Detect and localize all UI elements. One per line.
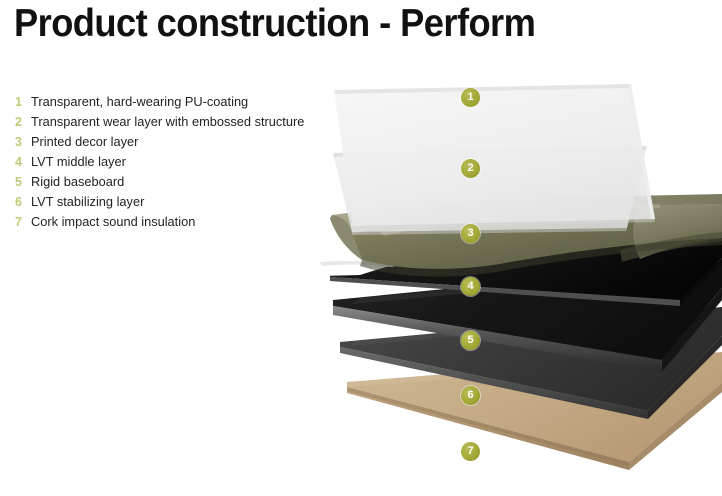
- list-item: 5 Rigid baseboard: [0, 172, 330, 192]
- diagram-soft-shadows: [347, 387, 629, 466]
- legend-label: Transparent, hard-wearing PU-coating: [31, 92, 248, 112]
- legend-label: Cork impact sound insulation: [31, 212, 195, 232]
- list-item: 1 Transparent, hard-wearing PU-coating: [0, 92, 330, 112]
- list-item: 7 Cork impact sound insulation: [0, 212, 330, 232]
- legend-number: 1: [0, 92, 22, 112]
- legend-label: LVT middle layer: [31, 152, 126, 172]
- layer-badge-4: 4: [461, 277, 480, 296]
- legend-list: 1 Transparent, hard-wearing PU-coating 2…: [0, 92, 330, 232]
- list-item: 6 LVT stabilizing layer: [0, 192, 330, 212]
- list-item: 3 Printed decor layer: [0, 132, 330, 152]
- layer-2-wear-layer-sheet: [333, 146, 647, 235]
- list-item: 2 Transparent wear layer with embossed s…: [0, 112, 330, 132]
- layer-3-printed-decor-layer: [330, 194, 722, 277]
- legend-label: Rigid baseboard: [31, 172, 124, 192]
- legend-number: 4: [0, 152, 22, 172]
- list-item: 4 LVT middle layer: [0, 152, 330, 172]
- legend-label: LVT stabilizing layer: [31, 192, 144, 212]
- layer-7-cork-insulation: [347, 352, 722, 470]
- layer-stack-diagram: [0, 0, 722, 496]
- legend-number: 7: [0, 212, 22, 232]
- layer-badge-1: 1: [461, 88, 480, 107]
- layer-badge-6: 6: [461, 386, 480, 405]
- legend-label: Printed decor layer: [31, 132, 138, 152]
- legend-number: 2: [0, 112, 22, 132]
- legend-number: 6: [0, 192, 22, 212]
- page-title: Product construction - Perform: [14, 2, 535, 46]
- layer-badge-2: 2: [461, 159, 480, 178]
- layer-badge-3: 3: [461, 224, 480, 243]
- layer-5-rigid-baseboard: [333, 262, 722, 372]
- layer-badge-7: 7: [461, 442, 480, 461]
- layer-4-lvt-middle-layer: [320, 236, 722, 306]
- layer-1-pu-coating-sheet: [334, 84, 655, 229]
- legend-number: 5: [0, 172, 22, 192]
- legend-label: Transparent wear layer with embossed str…: [31, 112, 304, 132]
- legend-number: 3: [0, 132, 22, 152]
- layer-6-lvt-stabilizing-layer: [340, 307, 722, 419]
- product-construction-figure: Product construction - Perform: [0, 0, 722, 496]
- layer-badge-5: 5: [461, 331, 480, 350]
